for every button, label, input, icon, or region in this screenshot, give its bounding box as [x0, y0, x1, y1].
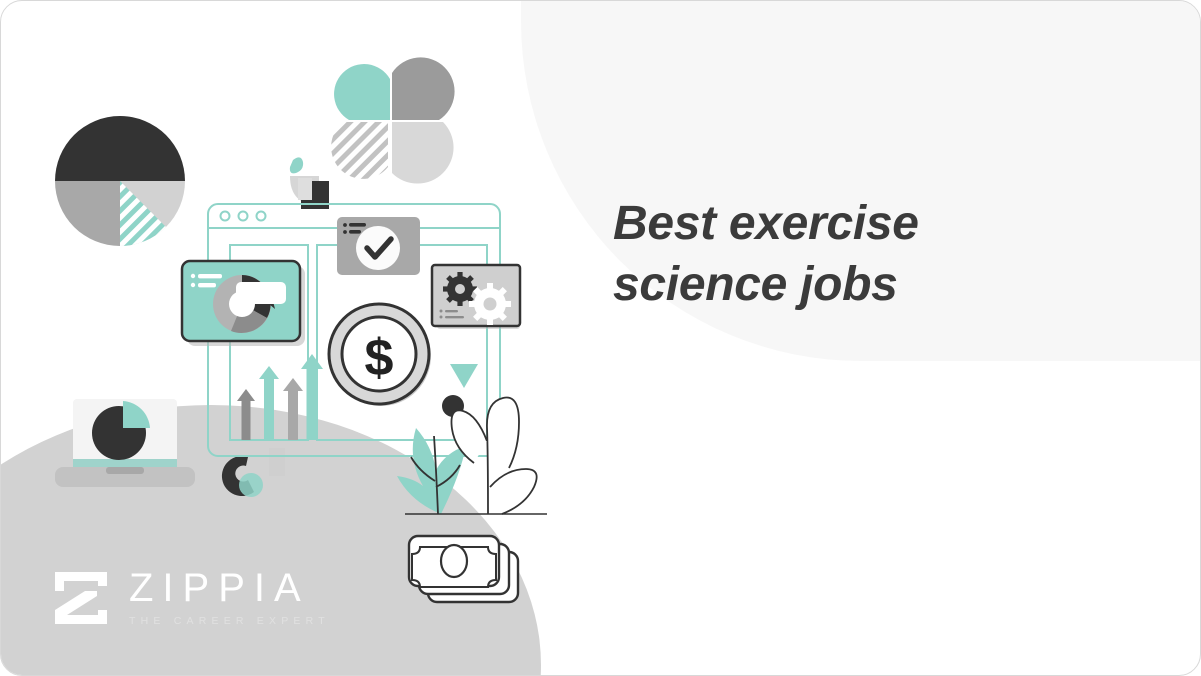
zippia-word: ZIPPIA [129, 568, 330, 608]
bar-arrows-chart [237, 354, 323, 440]
zippia-tagline: THE CAREER EXPERT [129, 615, 330, 627]
page-title-line-2: science jobs [613, 254, 1083, 315]
zippia-wordmark: ZIPPIA THE CAREER EXPERT [129, 568, 330, 627]
plant-leaves [397, 398, 547, 515]
zippia-logo[interactable]: ZIPPIA THE CAREER EXPERT [53, 568, 330, 627]
donut-chart-card [182, 261, 305, 346]
svg-text:$: $ [365, 329, 394, 387]
clover-petals [331, 57, 454, 183]
laptop-pie-chart [55, 399, 195, 487]
gears-card [432, 265, 520, 329]
gear-dark-icon [443, 272, 477, 306]
page-title-line-1: Best exercise [613, 193, 1083, 254]
checkmark-card [337, 217, 420, 275]
gear-light-icon [469, 283, 511, 325]
hero-card: $ [0, 0, 1201, 676]
dollar-coin: $ [329, 304, 431, 406]
page-title: Best exercise science jobs [613, 193, 1083, 316]
zippia-mark-icon [53, 570, 109, 626]
pie-chart [55, 116, 185, 246]
banknotes-stack [409, 536, 518, 602]
